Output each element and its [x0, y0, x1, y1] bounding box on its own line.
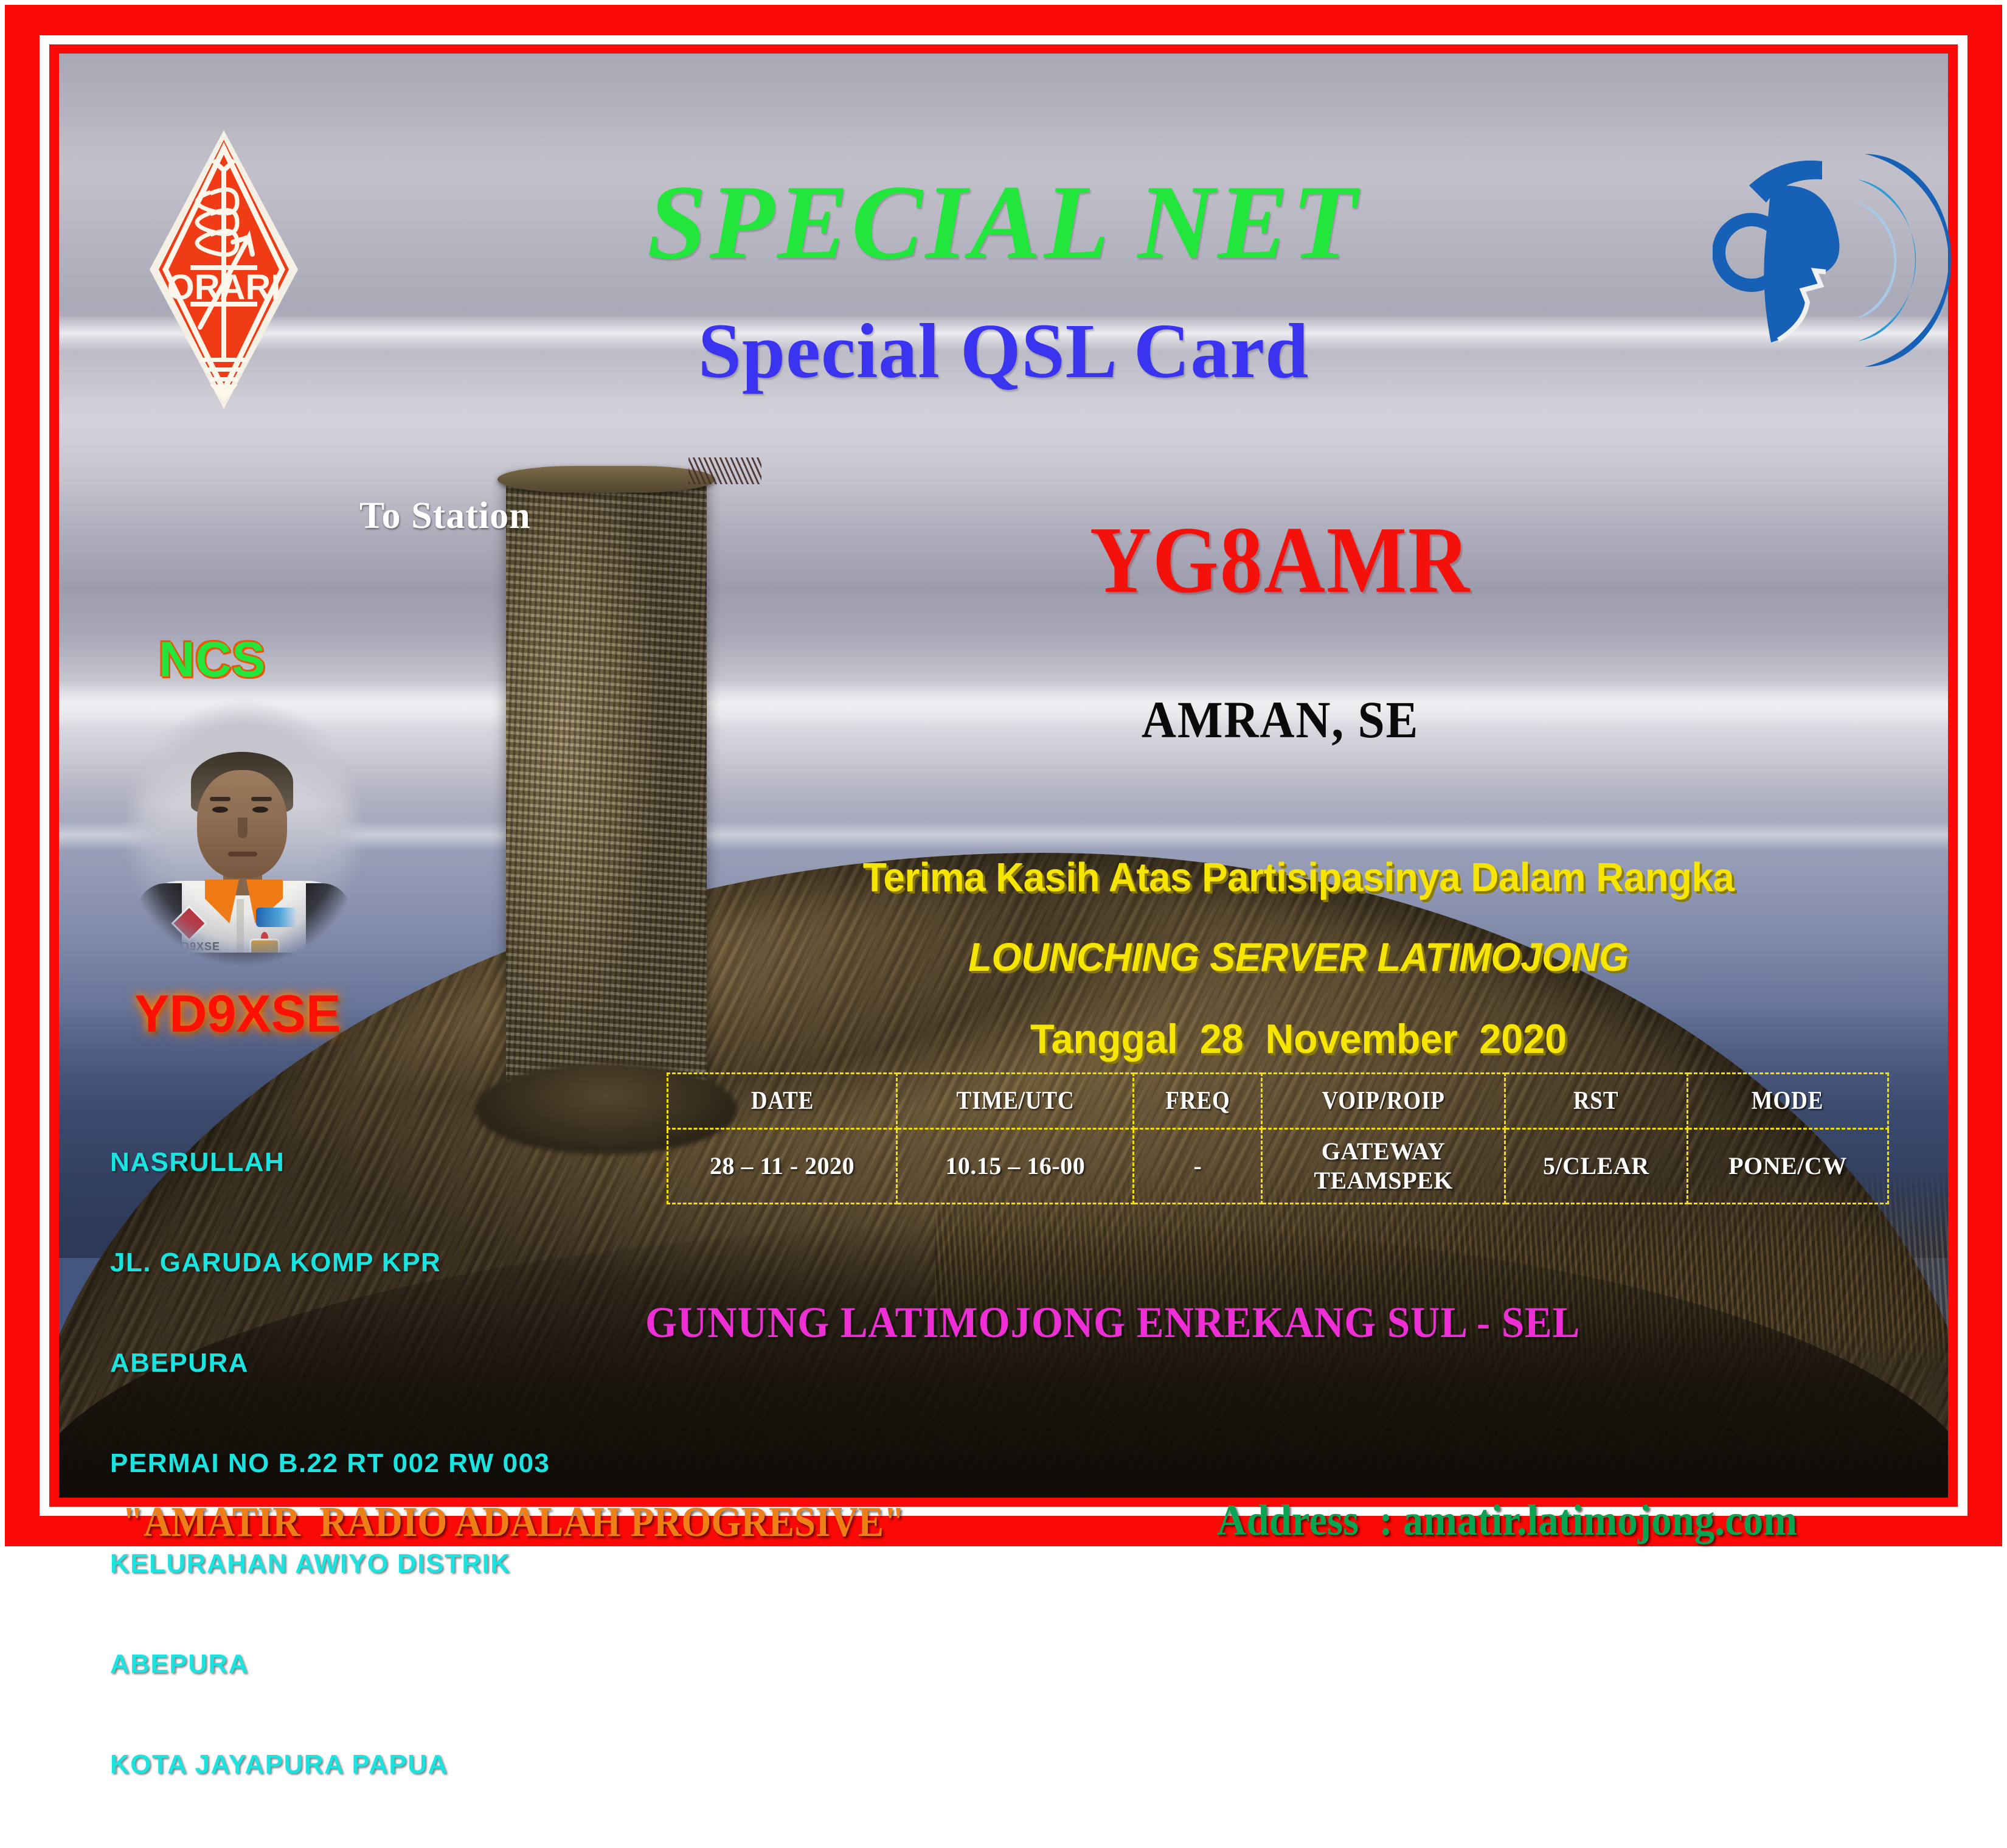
- address-line: ABEPURA: [110, 1647, 550, 1681]
- thank-you-message-block: Terima Kasih Atas Partisipasinya Dalam R…: [749, 832, 1848, 1085]
- cell-date: 28 – 11 - 2020: [668, 1129, 897, 1204]
- ncs-callsign: YD9XSE: [134, 984, 341, 1044]
- mailing-address-block: NASRULLAH JL. GARUDA KOMP KPR ABEPURA PE…: [110, 1079, 550, 1848]
- cell-rst: 5/CLEAR: [1505, 1129, 1687, 1204]
- table-header-voip-roip: VOIP/ROIP: [1277, 1074, 1490, 1129]
- address-line: KELURAHAN AWIYO DISTRIK: [110, 1547, 550, 1580]
- cell-freq: -: [1134, 1129, 1262, 1204]
- table-header-freq: FREQ: [1142, 1074, 1255, 1129]
- footer-web-address: Address : amatir.latimojong.com: [1217, 1495, 1797, 1546]
- footer-motto: "AMATIR RADIO ADALAH PROGRESIVE": [122, 1498, 905, 1547]
- subtitle-special-qsl-card: Special QSL Card: [49, 312, 1958, 390]
- table-header-rst: RST: [1516, 1074, 1676, 1129]
- table-header-time: TIME/UTC: [911, 1074, 1120, 1129]
- message-line-2: LOUNCHING SERVER LATIMOJONG: [776, 934, 1821, 980]
- cell-voip-roip: GATEWAY TEAMSPEK: [1262, 1129, 1505, 1204]
- qsl-card: ORARI: [0, 0, 2007, 1551]
- page-title-special-net: SPECIAL NET: [49, 169, 1958, 276]
- message-line-3: Tanggal 28 November 2020: [776, 1015, 1821, 1063]
- ncs-label: NCS: [159, 631, 266, 689]
- stone-cairn-pillar: [506, 479, 707, 1130]
- uniform-callsign-text: YD9XSE: [173, 940, 220, 953]
- address-line: KOTA JAYAPURA PAPUA: [110, 1748, 550, 1781]
- frame-outer-red: ORARI: [5, 5, 2002, 1546]
- cell-mode: PONE/CW: [1687, 1129, 1888, 1204]
- operator-name: AMRAN, SE: [842, 689, 1719, 750]
- address-line: NASRULLAH: [110, 1145, 550, 1179]
- address-line: JL. GARUDA KOMP KPR: [110, 1246, 550, 1279]
- qso-log-table: DATE TIME/UTC FREQ VOIP/ROIP RST MODE 28…: [667, 1072, 1889, 1204]
- location-line: GUNUNG LATIMOJONG ENREKANG SUL - SEL: [645, 1297, 1580, 1348]
- table-row: 28 – 11 - 2020 10.15 – 16-00 - GATEWAY T…: [668, 1129, 1888, 1204]
- table-header-row: DATE TIME/UTC FREQ VOIP/ROIP RST MODE: [668, 1074, 1888, 1129]
- message-line-1: Terima Kasih Atas Partisipasinya Dalam R…: [776, 854, 1821, 901]
- frame-white-gap: ORARI: [40, 35, 1967, 1516]
- callsign-heading: YG8AMR: [803, 513, 1757, 608]
- address-line: PERMAI NO B.22 RT 002 RW 003: [110, 1447, 550, 1480]
- table-header-mode: MODE: [1699, 1074, 1876, 1129]
- table-header-date: DATE: [681, 1074, 883, 1129]
- cell-time: 10.15 – 16-00: [897, 1129, 1134, 1204]
- frame-inner-red: ORARI: [49, 44, 1958, 1507]
- address-line: ABEPURA: [110, 1346, 550, 1380]
- to-station-label: To Station: [359, 495, 531, 538]
- ncs-operator-photo: YD9XSE: [116, 698, 372, 978]
